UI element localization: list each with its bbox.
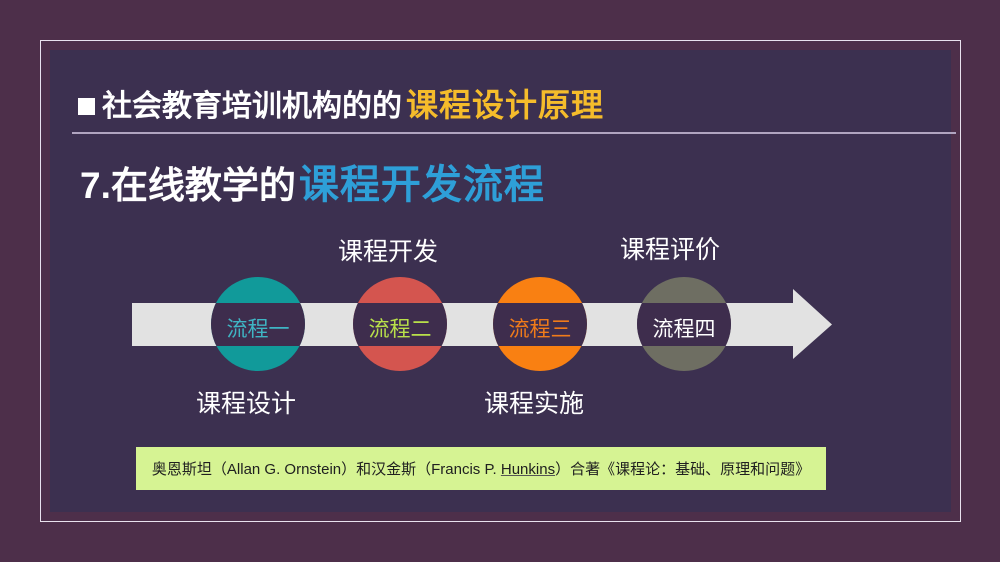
step-label-2[interactable]: 流程二 <box>354 313 446 343</box>
label-below-step-1: 课程设计 <box>196 384 296 420</box>
label-above-step-2: 课程开发 <box>338 232 438 268</box>
citation-part-2: ）合著《课程论：基础、原理和问题》 <box>555 461 810 478</box>
step-label-3[interactable]: 流程三 <box>494 313 586 343</box>
title-blue-text: 课程开发流程 <box>299 152 545 210</box>
header-divider <box>72 132 956 134</box>
citation-spellchecked-word: Hunkins <box>501 461 555 478</box>
label-below-step-3: 课程实施 <box>484 384 584 420</box>
header-white-text: 社会教育培训机构的的 <box>102 81 402 125</box>
citation-box: 奥恩斯坦（Allan G. Ornstein）和汉金斯（Francis P. H… <box>136 447 826 490</box>
step-label-4[interactable]: 流程四 <box>638 313 730 343</box>
header: 社会教育培训机构的的 课程设计原理 <box>78 80 604 126</box>
title-white-text: 7.在线教学的 <box>80 155 296 209</box>
header-gold-text: 课程设计原理 <box>406 80 604 126</box>
label-above-step-4: 课程评价 <box>620 230 720 266</box>
citation-text: 奥恩斯坦（Allan G. Ornstein）和汉金斯（Francis P. H… <box>152 458 810 479</box>
slide-canvas: 社会教育培训机构的的 课程设计原理 7.在线教学的 课程开发流程 <box>0 0 1000 562</box>
step-label-1[interactable]: 流程一 <box>212 313 304 343</box>
page-title: 7.在线教学的 课程开发流程 <box>80 152 545 210</box>
citation-part-1: 奥恩斯坦（Allan G. Ornstein）和汉金斯（Francis P. <box>152 461 501 478</box>
square-bullet-icon <box>78 98 95 115</box>
